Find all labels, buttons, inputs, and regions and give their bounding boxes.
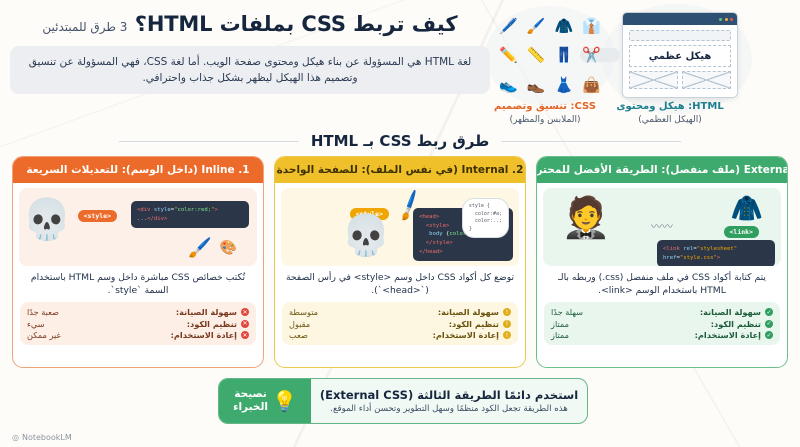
expert-tip-badge-line1: نصيحة [234,388,267,400]
card-internal[interactable]: 2. Internal (في نفس الملف): للصفحة الواح… [274,156,526,368]
browser-dot-yellow [725,18,728,21]
cross-icon: ✕ [241,320,249,328]
rating-label: سهولة الصيانة: [700,307,761,317]
browser-titlebar [623,13,737,25]
skeleton-label: هيكل عظمي [629,45,731,67]
wireframe-line [629,30,731,41]
warning-icon: ! [503,308,511,316]
expert-tip-subtext: هذه الطريقة تجعل الكود منظمًا وسهل التطو… [330,404,568,414]
card-inline-title: 1. Inline (داخل الوسم): للتعديلات السريع… [13,157,263,183]
expert-tip-badge: 💡 نصيحة الخبراء [219,379,311,423]
browser-content: هيكل عظمي [623,25,737,94]
wireframe-box [629,71,678,89]
rating-value: سيء [27,319,45,329]
rating-label: تنظيم الكود: [187,319,237,329]
rating-value: سهلة جدًا [551,307,583,317]
rating-label: سهولة الصيانة: [438,307,499,317]
section-title: طرق ربط CSS بـ HTML [0,128,800,154]
caption-css-sub: (الملابس والمظهر) [470,114,620,126]
shirt-icon: 👔 [582,19,601,34]
rating-row: ✓ تنظيم الكود: ممتاز [551,319,773,329]
cross-icon: ✕ [241,331,249,339]
rating-label: تنظيم الكود: [711,319,761,329]
check-icon: ✓ [765,320,773,328]
scissors-icon: ✂️ [582,48,601,63]
browser-dot-red [730,18,733,21]
rating-row: ! سهولة الصيانة: متوسطة [289,307,511,317]
section-title-text: طرق ربط CSS بـ HTML [311,132,489,150]
rating-row: ✕ تنظيم الكود: سيء [27,319,249,329]
expert-tip-badge-text: نصيحة الخبراء [233,388,268,413]
rating-row: ✓ سهولة الصيانة: سهلة جدًا [551,307,773,317]
caption-css-title: CSS: تنسيق وتصميم [470,100,620,114]
trousers-icon: 👖 [555,48,574,63]
card-external-illustration: 🧥 <link> <link rel="stylesheet" href="st… [543,188,781,266]
divider-left [119,141,299,142]
rating-label: سهولة الصيانة: [176,307,237,317]
card-inline-description: تُكتب خصائص CSS مباشرة داخل وسم HTML باس… [22,271,254,298]
page-title-main: كيف تربط CSS بملفات HTML؟ [135,12,458,36]
card-inline[interactable]: 1. Inline (داخل الوسم): للتعديلات السريع… [12,156,264,368]
warning-icon: ! [503,331,511,339]
rating-row: ! إعادة الاستخدام: صعب [289,330,511,340]
cross-icon: ✕ [241,308,249,316]
rating-row: ✕ سهولة الصيانة: صعبة جدًا [27,307,249,317]
card-inline-pill: <style> [78,210,117,222]
rating-value: ممتاز [551,330,569,340]
notebooklm-logo-icon: ◎ [12,433,19,442]
card-external-title: 3. External (ملف منفصل): الطريقة الأفضل … [537,157,787,183]
rating-label: إعادة الاستخدام: [695,330,761,340]
rating-row: ! تنظيم الكود: مقبول [289,319,511,329]
clothes-illustration: 👔 🧥 🖌️ 🖊️ ✂️ 👖 📏 ✏️ 👜 👗 👞 👟 [495,12,605,100]
skeleton-icon: 💀 [22,200,72,240]
card-inline-ratings: ✕ سهولة الصيانة: صعبة جدًا ✕ تنظيم الكود… [20,302,256,345]
card-internal-illustration: <head> <style> body {color:blue;} </styl… [281,188,519,266]
pen-icon: 🖊️ [499,19,518,34]
hero-illustration: هيكل عظمي 👔 🧥 🖌️ 🖊️ ✂️ 👖 📏 ✏️ 👜 👗 👞 👟 [480,8,800,128]
card-inline-code: <div style="color:red;"> ...</div> [131,201,249,228]
card-external-ratings: ✓ سهولة الصيانة: سهلة جدًا ✓ تنظيم الكود… [544,302,780,345]
card-external-description: يتم كتابة أكواد CSS في ملف منفصل (css.) … [546,271,778,298]
card-internal-thought-bubble: style { color:#a; color:..; } [462,198,509,238]
card-external-pill: <link> [724,226,759,238]
rating-value: متوسطة [289,307,318,317]
page-title-sub: 3 طرق للمبتدئين [42,20,127,34]
check-icon: ✓ [765,331,773,339]
sneaker-icon: 👟 [499,78,518,93]
card-external-code: <link rel="stylesheet" href="style.css"> [657,240,775,266]
rating-value: غير ممكن [27,330,61,340]
bag-icon: 👜 [582,78,601,93]
check-icon: ✓ [765,308,773,316]
card-internal-description: توضع كل أكواد CSS داخل وسم <style> في رأ… [284,271,516,298]
caption-css: CSS: تنسيق وتصميم (الملابس والمظهر) [470,100,620,126]
cable-icon: 〰〰 [651,218,673,234]
intro-paragraph: لغة HTML هي المسؤولة عن بناء هيكل ومحتوى… [10,46,490,94]
palette-icon: 🎨 [220,240,237,256]
wireframe-box [682,71,731,89]
card-internal-title: 2. Internal (في نفس الملف): للصفحة الواح… [275,157,525,183]
card-inline-illustration: <div style="color:red;"> ...</div> <styl… [19,188,257,266]
header: هيكل عظمي 👔 🧥 🖌️ 🖊️ ✂️ 👖 📏 ✏️ 👜 👗 👞 👟 [0,0,800,132]
header-text-block: كيف تربط CSS بملفات HTML؟ 3 طرق للمبتدئي… [10,12,490,94]
pencil-icon: ✏️ [499,48,518,63]
skeleton-suited-icon: 🤵 [561,198,611,238]
paintbrush-icon: 🖌️ [527,19,546,34]
browser-dot-green [719,18,722,21]
ruler-icon: 📏 [527,48,546,63]
browser-mockup: هيكل عظمي [622,12,738,98]
card-external[interactable]: 3. External (ملف منفصل): الطريقة الأفضل … [536,156,788,368]
expert-tip-badge-line2: الخبراء [233,401,268,413]
lightbulb-icon: 💡 [272,391,297,411]
dress-icon: 👗 [555,78,574,93]
expert-tip-body: استخدم دائمًا الطريقة الثالثة (External … [311,379,587,423]
shoe-icon: 👞 [527,78,546,93]
rating-value: صعب [289,330,308,340]
paintbrush-icon: 🖌️ [188,236,212,259]
expert-tip-headline: استخدم دائمًا الطريقة الثالثة (External … [320,388,578,402]
rating-label: تنظيم الكود: [449,319,499,329]
warning-icon: ! [503,320,511,328]
jacket-icon: 🧥 [555,19,574,34]
rating-value: صعبة جدًا [27,307,59,317]
rating-value: مقبول [289,319,310,329]
rating-value: ممتاز [551,319,569,329]
rating-row: ✕ إعادة الاستخدام: غير ممكن [27,330,249,340]
skeleton-icon: 💀 [341,216,391,256]
rating-label: إعادة الاستخدام: [171,330,237,340]
expert-tip-banner: 💡 نصيحة الخبراء استخدم دائمًا الطريقة ال… [218,378,588,424]
divider-right [501,141,681,142]
card-internal-ratings: ! سهولة الصيانة: متوسطة ! تنظيم الكود: م… [282,302,518,345]
css-file-icon: 🧥 [731,194,763,224]
watermark-label: NotebookLM [22,433,72,442]
page-title: كيف تربط CSS بملفات HTML؟ 3 طرق للمبتدئي… [10,12,490,37]
rating-row: ✓ إعادة الاستخدام: ممتاز [551,330,773,340]
watermark: ◎ NotebookLM [12,433,72,442]
wireframe-row [629,71,731,89]
methods-cards: 1. Inline (داخل الوسم): للتعديلات السريع… [0,156,800,368]
rating-label: إعادة الاستخدام: [433,330,499,340]
